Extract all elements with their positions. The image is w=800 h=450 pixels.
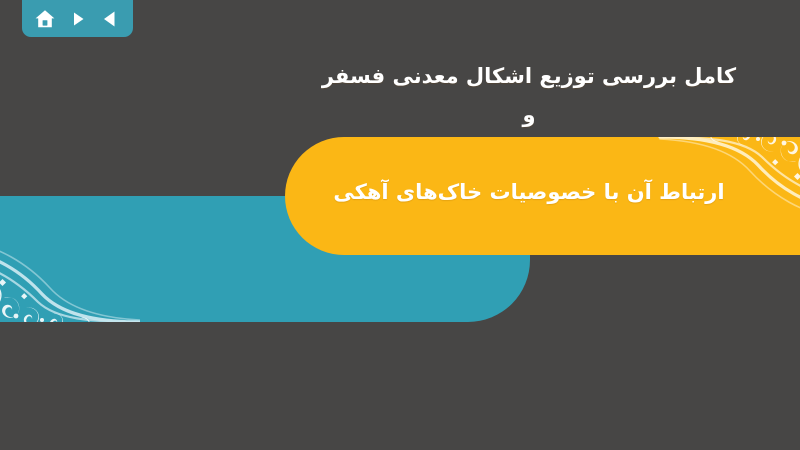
teal-arabesque-ornament-icon <box>0 210 140 322</box>
home-icon <box>34 8 56 30</box>
presentation-slide: کامل بررسی توزیع اشکال معدنی فسفر و ارتب… <box>0 0 800 450</box>
slide-title-line-1: کامل بررسی توزیع اشکال معدنی فسفر و <box>314 57 744 135</box>
home-button[interactable] <box>32 6 58 32</box>
navigation-toolbar <box>22 0 133 37</box>
previous-slide-button[interactable] <box>97 6 123 32</box>
next-triangle-icon <box>68 9 88 29</box>
previous-triangle-icon <box>100 9 120 29</box>
slide-title-line-2: ارتباط آن با خصوصیات خاک‌های آهکی <box>314 173 744 212</box>
next-slide-button[interactable] <box>65 6 91 32</box>
slide-title: کامل بررسی توزیع اشکال معدنی فسفر و ارتب… <box>314 18 744 251</box>
